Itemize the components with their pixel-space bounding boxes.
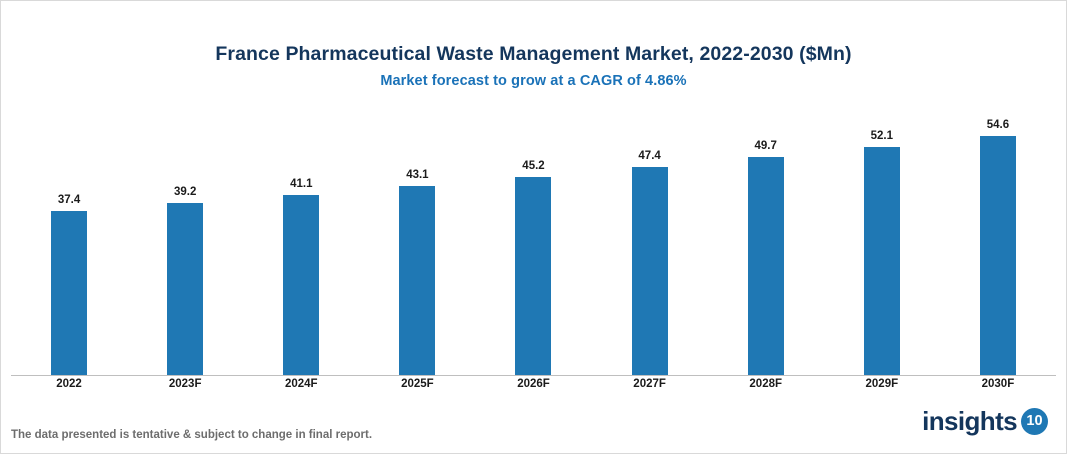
- bar-slot: 52.1: [824, 111, 940, 375]
- bar[interactable]: [748, 157, 784, 375]
- footnote: The data presented is tentative & subjec…: [11, 429, 372, 441]
- chart-title: France Pharmaceutical Waste Management M…: [1, 43, 1066, 66]
- bar-slot: 43.1: [359, 111, 475, 375]
- bar-slot: 47.4: [592, 111, 708, 375]
- bar-value-label: 37.4: [58, 195, 80, 207]
- bar[interactable]: [864, 147, 900, 375]
- bar-series: 37.4 39.2 41.1 43.1 45.2 47.4: [11, 111, 1056, 375]
- brand-badge: 10: [1021, 408, 1048, 435]
- chart-page: France Pharmaceutical Waste Management M…: [0, 0, 1067, 454]
- x-tick-label: 2029F: [824, 378, 940, 396]
- x-tick-label: 2027F: [592, 378, 708, 396]
- bar-slot: 45.2: [475, 111, 591, 375]
- bar[interactable]: [632, 167, 668, 375]
- bar[interactable]: [399, 186, 435, 375]
- bar-value-label: 43.1: [406, 170, 428, 182]
- bar-slot: 37.4: [11, 111, 127, 375]
- bar[interactable]: [515, 177, 551, 375]
- bar-slot: 54.6: [940, 111, 1056, 375]
- x-tick-label: 2023F: [127, 378, 243, 396]
- bar-value-label: 47.4: [638, 151, 660, 163]
- x-tick-label: 2024F: [243, 378, 359, 396]
- x-axis-labels: 2022 2023F 2024F 2025F 2026F 2027F 2028F…: [11, 378, 1056, 396]
- x-tick-label: 2026F: [475, 378, 591, 396]
- bar-value-label: 41.1: [290, 179, 312, 191]
- bar[interactable]: [283, 195, 319, 375]
- brand-name: insights: [922, 406, 1017, 437]
- bar-value-label: 52.1: [871, 131, 893, 143]
- bar-slot: 41.1: [243, 111, 359, 375]
- bar-value-label: 39.2: [174, 187, 196, 199]
- x-tick-label: 2022: [11, 378, 127, 396]
- bar-value-label: 54.6: [987, 120, 1009, 132]
- bar-slot: 49.7: [708, 111, 824, 375]
- bar[interactable]: [167, 203, 203, 375]
- chart-subtitle: Market forecast to grow at a CAGR of 4.8…: [1, 73, 1066, 89]
- x-axis-line: [11, 375, 1056, 376]
- brand-logo: insights 10: [922, 406, 1048, 437]
- x-tick-label: 2030F: [940, 378, 1056, 396]
- plot-area: 37.4 39.2 41.1 43.1 45.2 47.4: [11, 111, 1056, 376]
- bar-value-label: 45.2: [522, 161, 544, 173]
- bar[interactable]: [51, 211, 87, 375]
- bar[interactable]: [980, 136, 1016, 375]
- x-tick-label: 2028F: [708, 378, 824, 396]
- bar-value-label: 49.7: [755, 141, 777, 153]
- bar-slot: 39.2: [127, 111, 243, 375]
- x-tick-label: 2025F: [359, 378, 475, 396]
